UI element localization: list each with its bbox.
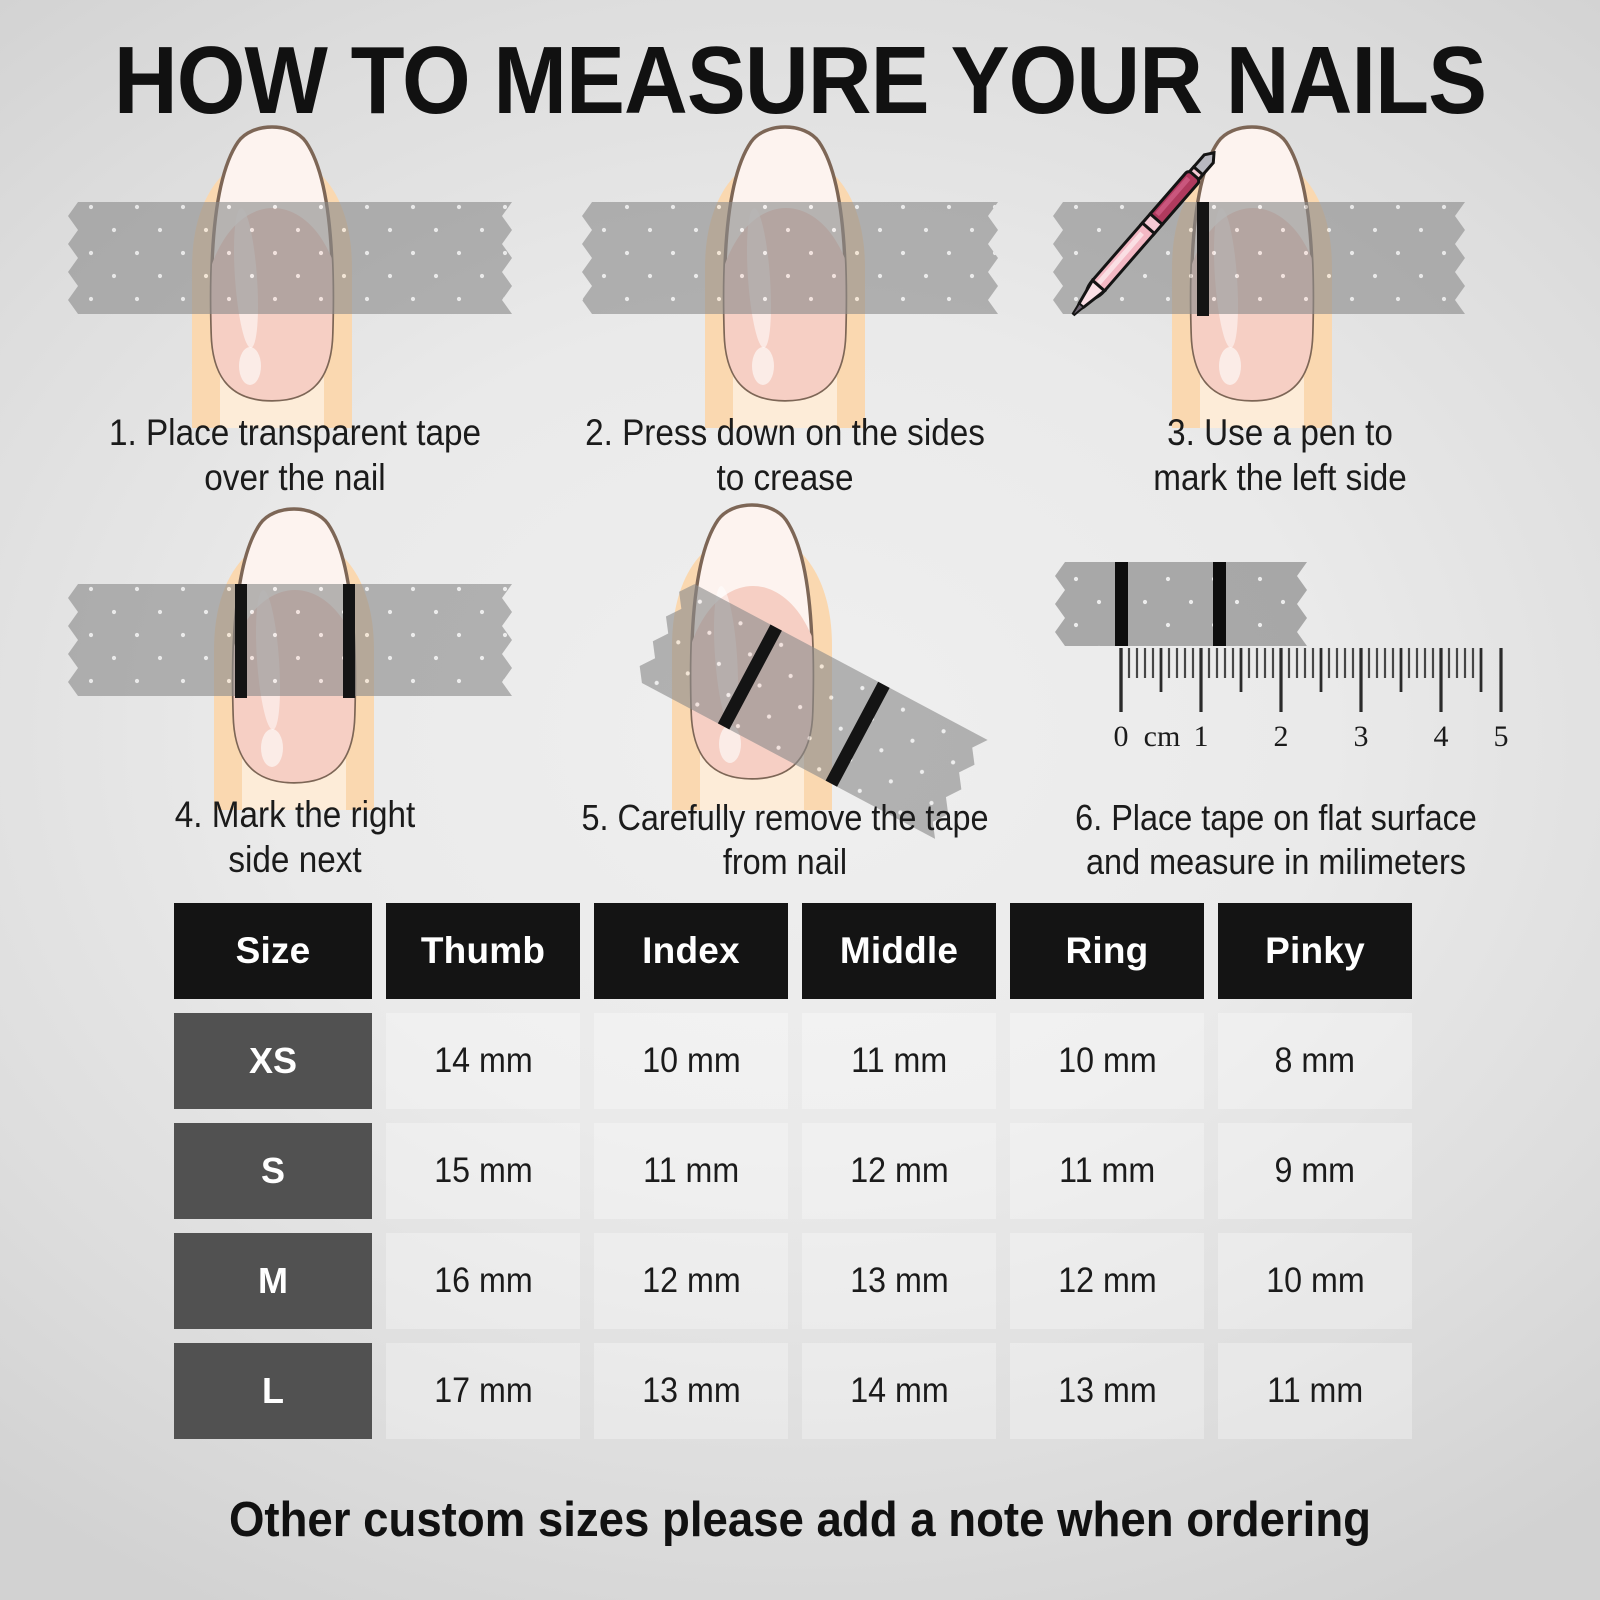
step-2-caption-line1: 2. Press down on the sides (574, 410, 997, 455)
step-3-caption: 3. Use a pen to mark the left side (1069, 410, 1492, 500)
ruler-unit-label: cm (1144, 720, 1181, 753)
table-header-ring: Ring (1010, 903, 1204, 999)
cell-l-ring: 13 mm (1010, 1343, 1204, 1439)
cell-xs-ring: 10 mm (1010, 1013, 1204, 1109)
step-5-caption-line1: 5. Carefully remove the tape (574, 796, 997, 840)
tape-strip (582, 202, 998, 314)
step-1-caption-line2: over the nail (84, 455, 507, 500)
footer-note: Other custom sizes please add a note whe… (56, 1492, 1544, 1548)
table-row: S 15 mm 11 mm 12 mm 11 mm 9 mm (174, 1123, 1438, 1219)
step-2-caption-line2: to crease (574, 455, 997, 500)
step-6-caption-line2: and measure in milimeters (1057, 840, 1494, 884)
ruler-label-3: 3 (1354, 720, 1369, 753)
table-header-row: Size Thumb Index Middle Ring Pinky (174, 903, 1438, 999)
step-4-caption-line2: side next (84, 837, 507, 882)
cell-l-index: 13 mm (594, 1343, 788, 1439)
row-size-s: S (174, 1123, 372, 1219)
infographic-page: HOW TO MEASURE YOUR NAILS (0, 0, 1600, 1600)
step-6-caption-line1: 6. Place tape on flat surface (1057, 796, 1494, 840)
cell-m-index: 12 mm (594, 1233, 788, 1329)
table-row: M 16 mm 12 mm 13 mm 12 mm 10 mm (174, 1233, 1438, 1329)
step-2-illustration (550, 128, 1020, 408)
cell-xs-middle: 11 mm (802, 1013, 996, 1109)
step-5-caption: 5. Carefully remove the tape from nail (574, 796, 997, 884)
step-4-illustration (60, 510, 530, 790)
ruler-label-5: 5 (1494, 720, 1509, 753)
cell-m-ring: 12 mm (1010, 1233, 1204, 1329)
ruler-labels: 0 cm 1 2 3 4 5 (1114, 720, 1509, 753)
step-1-caption: 1. Place transparent tape over the nail (84, 410, 507, 500)
right-mark (343, 584, 355, 698)
cell-xs-thumb: 14 mm (386, 1013, 580, 1109)
row-size-m: M (174, 1233, 372, 1329)
step-5-illustration (550, 500, 1020, 780)
tape-strip (1055, 562, 1307, 646)
table-row: L 17 mm 13 mm 14 mm 13 mm 11 mm (174, 1343, 1438, 1439)
left-mark (1197, 202, 1209, 316)
step-2-caption: 2. Press down on the sides to crease (574, 410, 997, 500)
cell-s-index: 11 mm (594, 1123, 788, 1219)
step-3-illustration (1045, 128, 1515, 408)
cell-s-pinky: 9 mm (1218, 1123, 1412, 1219)
page-title: HOW TO MEASURE YOUR NAILS (64, 26, 1536, 136)
step-3-caption-line1: 3. Use a pen to (1069, 410, 1492, 455)
row-size-l: L (174, 1343, 372, 1439)
ruler (1121, 648, 1501, 712)
left-mark (235, 584, 247, 698)
step-6: 0 cm 1 2 3 4 5 6. Place tape on flat sur… (1045, 500, 1515, 780)
cell-xs-index: 10 mm (594, 1013, 788, 1109)
step-3-caption-line2: mark the left side (1069, 455, 1492, 500)
ruler-label-4: 4 (1434, 720, 1449, 753)
table-header-middle: Middle (802, 903, 996, 999)
step-5: 5. Carefully remove the tape from nail (550, 500, 1020, 780)
step-4-caption: 4. Mark the right side next (84, 792, 507, 882)
step-4-caption-line1: 4. Mark the right (84, 792, 507, 837)
cell-s-ring: 11 mm (1010, 1123, 1204, 1219)
left-mark (1115, 562, 1128, 646)
ruler-label-2: 2 (1274, 720, 1289, 753)
right-mark (1213, 562, 1226, 646)
step-3: 3. Use a pen to mark the left side (1045, 128, 1515, 408)
step-5-caption-line2: from nail (574, 840, 997, 884)
step-6-caption: 6. Place tape on flat surface and measur… (1057, 796, 1494, 884)
row-size-xs: XS (174, 1013, 372, 1109)
size-chart-table: Size Thumb Index Middle Ring Pinky XS 14… (174, 903, 1438, 1453)
tape-strip (68, 202, 512, 314)
table-row: XS 14 mm 10 mm 11 mm 10 mm 8 mm (174, 1013, 1438, 1109)
cell-s-thumb: 15 mm (386, 1123, 580, 1219)
table-header-size: Size (174, 903, 372, 999)
cell-l-thumb: 17 mm (386, 1343, 580, 1439)
cell-m-middle: 13 mm (802, 1233, 996, 1329)
table-header-pinky: Pinky (1218, 903, 1412, 999)
cell-xs-pinky: 8 mm (1218, 1013, 1412, 1109)
table-header-index: Index (594, 903, 788, 999)
ruler-label-0: 0 (1114, 720, 1129, 753)
cell-s-middle: 12 mm (802, 1123, 996, 1219)
cell-m-thumb: 16 mm (386, 1233, 580, 1329)
step-1-caption-line1: 1. Place transparent tape (84, 410, 507, 455)
cell-l-pinky: 11 mm (1218, 1343, 1412, 1439)
step-6-illustration: 0 cm 1 2 3 4 5 (1045, 500, 1515, 780)
cell-l-middle: 14 mm (802, 1343, 996, 1439)
step-1: 1. Place transparent tape over the nail (60, 128, 530, 408)
table-header-thumb: Thumb (386, 903, 580, 999)
cell-m-pinky: 10 mm (1218, 1233, 1412, 1329)
step-2: 2. Press down on the sides to crease (550, 128, 1020, 408)
tape-strip (68, 584, 512, 696)
ruler-label-1: 1 (1194, 720, 1209, 753)
step-4: 4. Mark the right side next (60, 510, 530, 790)
step-1-illustration (60, 128, 530, 408)
